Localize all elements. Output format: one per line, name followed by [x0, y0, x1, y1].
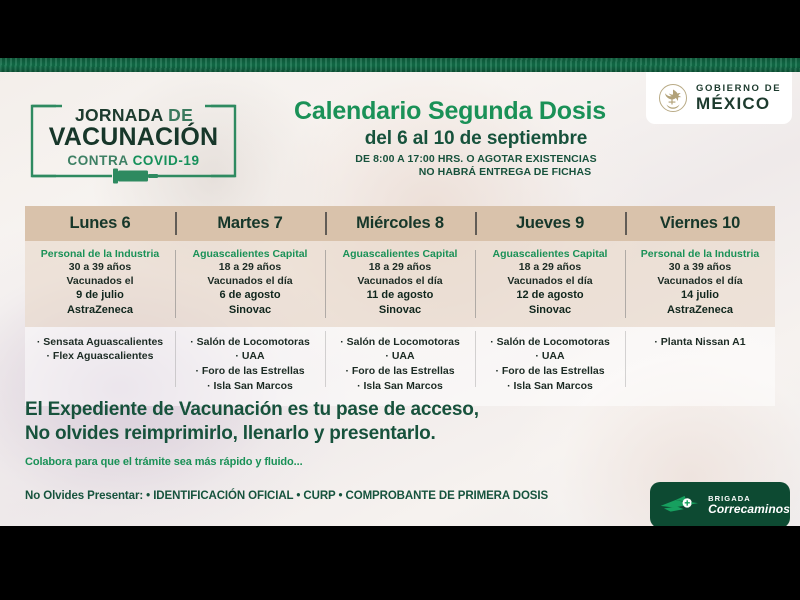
remember-item-0-text: IDENTIFICACIÓN OFICIAL [153, 490, 293, 502]
vaccinated-label: Vacunados el día [631, 275, 769, 289]
info-cell-viernes: Personal de la Industria 30 a 39 años Va… [625, 241, 775, 327]
list-item: · Salón de Locomotoras [331, 335, 469, 350]
group-label: Aguascalientes Capital [331, 248, 469, 261]
list-item: · Isla San Marcos [481, 379, 619, 394]
info-cell-martes: Aguascalientes Capital 18 a 29 años Vacu… [175, 241, 325, 327]
vaccinated-label: Vacunados el día [481, 275, 619, 289]
no-fichas-notice: NO HABRÁ ENTREGA DE FICHAS [250, 166, 650, 178]
calendar-header-row: Lunes 6 Martes 7 Miércoles 8 Jueves 9 Vi… [25, 206, 775, 241]
roadrunner-bird-icon [659, 490, 702, 520]
logo-covid-word: COVID-19 [133, 153, 200, 168]
remember-label: No Olvides Presentar: [25, 490, 143, 502]
age-label: 18 a 29 años [331, 261, 469, 275]
vaccine-name: AstraZeneca [31, 303, 169, 317]
age-label: 30 a 39 años [31, 261, 169, 275]
locations-cell-lunes: · Sensata Aguascalientes · Flex Aguascal… [25, 327, 175, 407]
info-cell-jueves: Aguascalientes Capital 18 a 29 años Vacu… [475, 241, 625, 327]
remember-item-2: • COMPROBANTE DE PRIMERA DOSIS [339, 490, 549, 502]
day-header-martes: Martes 7 [175, 206, 325, 241]
sub-message: Colabora para que el trámite sea más ráp… [25, 456, 645, 468]
day-header-lunes: Lunes 6 [25, 206, 175, 241]
list-item: · Foro de las Estrellas [481, 364, 619, 379]
vaccine-name: Sinovac [481, 303, 619, 317]
vaccinated-label: Vacunados el día [331, 275, 469, 289]
brigada-line2: Correcaminos [708, 503, 790, 516]
remember-item-1: • CURP [296, 490, 335, 502]
logo-jornada-word: JORNADA [75, 105, 163, 125]
vaccine-name: Sinovac [331, 303, 469, 317]
info-cell-lunes: Personal de la Industria 30 a 39 años Va… [25, 241, 175, 327]
list-item: · Planta Nissan A1 [631, 335, 769, 350]
day-label: Miércoles 8 [329, 214, 471, 233]
first-dose-date: 11 de agosto [331, 288, 469, 303]
group-label: Personal de la Industria [631, 248, 769, 261]
calendar-locations-row: · Sensata Aguascalientes · Flex Aguascal… [25, 327, 775, 407]
vaccine-name: Sinovac [181, 303, 319, 317]
list-item: · Salón de Locomotoras [181, 335, 319, 350]
calendar-table: Lunes 6 Martes 7 Miércoles 8 Jueves 9 Vi… [25, 206, 775, 406]
list-item: · Foro de las Estrellas [331, 364, 469, 379]
vaccine-name: AstraZeneca [631, 303, 769, 317]
info-cell-miercoles: Aguascalientes Capital 18 a 29 años Vacu… [325, 241, 475, 327]
day-header-jueves: Jueves 9 [475, 206, 625, 241]
locations-cell-viernes: · Planta Nissan A1 [625, 327, 775, 407]
brigada-text: BRIGADA Correcaminos [708, 495, 790, 515]
jornada-vacunacion-logo: JORNADA DE VACUNACIÓN CONTRA COVID-19 [26, 96, 241, 191]
group-label: Aguascalientes Capital [481, 248, 619, 261]
list-item: · UAA [181, 349, 319, 364]
locations-cell-jueves: · Salón de Locomotoras · UAA · Foro de l… [475, 327, 625, 407]
group-label: Aguascalientes Capital [181, 248, 319, 261]
list-item: · Flex Aguascalientes [31, 349, 169, 364]
day-label: Lunes 6 [29, 214, 171, 233]
header-block: Calendario Segunda Dosis del 6 al 10 de … [250, 98, 650, 178]
list-item: · Isla San Marcos [181, 379, 319, 394]
first-dose-date: 6 de agosto [181, 288, 319, 303]
day-label: Martes 7 [179, 214, 321, 233]
gobierno-de-mexico-badge: GOBIERNO DE MÉXICO [646, 72, 792, 124]
list-item: · Foro de las Estrellas [181, 364, 319, 379]
gobierno-text: GOBIERNO DE MÉXICO [696, 84, 781, 113]
list-item: · Sensata Aguascalientes [31, 335, 169, 350]
remember-item-0: • IDENTIFICACIÓN OFICIAL [146, 490, 293, 502]
mexico-eagle-seal-icon [658, 83, 688, 113]
remember-item-2-text: COMPROBANTE DE PRIMERA DOSIS [346, 490, 549, 502]
day-header-miercoles: Miércoles 8 [325, 206, 475, 241]
day-label: Jueves 9 [479, 214, 621, 233]
main-message-block: El Expediente de Vacunación es tu pase d… [25, 398, 645, 468]
list-item: · Salón de Locomotoras [481, 335, 619, 350]
group-label: Personal de la Industria [31, 248, 169, 261]
top-green-band-right [640, 58, 800, 72]
list-item: · UAA [331, 349, 469, 364]
date-range-subtitle: del 6 al 10 de septiembre [250, 128, 650, 150]
poster-stage: JORNADA DE VACUNACIÓN CONTRA COVID-19 Ca… [0, 0, 800, 600]
age-label: 18 a 29 años [481, 261, 619, 275]
vaccinated-label: Vacunados el día [181, 275, 319, 289]
logo-de-word: DE [168, 105, 193, 125]
gobierno-line1: GOBIERNO DE [696, 84, 781, 94]
hours-text: DE 8:00 A 17:00 HRS. O AGOTAR EXISTENCIA… [250, 153, 650, 165]
logo-contra-line: CONTRA COVID-19 [26, 153, 241, 168]
poster-canvas: JORNADA DE VACUNACIÓN CONTRA COVID-19 Ca… [0, 58, 800, 526]
syringe-icon [113, 169, 158, 184]
list-item: · Isla San Marcos [331, 379, 469, 394]
locations-cell-miercoles: · Salón de Locomotoras · UAA · Foro de l… [325, 327, 475, 407]
logo-contra-word: CONTRA [67, 153, 128, 168]
list-item: · UAA [481, 349, 619, 364]
first-dose-date: 9 de julio [31, 288, 169, 303]
gobierno-line2: MÉXICO [696, 95, 781, 112]
page-title: Calendario Segunda Dosis [250, 98, 650, 126]
main-message-line1: El Expediente de Vacunación es tu pase d… [25, 398, 645, 422]
first-dose-date: 12 de agosto [481, 288, 619, 303]
age-label: 18 a 29 años [181, 261, 319, 275]
age-label: 30 a 39 años [631, 261, 769, 275]
brigada-correcaminos-badge: BRIGADA Correcaminos [650, 482, 790, 526]
day-header-viernes: Viernes 10 [625, 206, 775, 241]
vaccinated-label: Vacunados el [31, 275, 169, 289]
locations-cell-martes: · Salón de Locomotoras · UAA · Foro de l… [175, 327, 325, 407]
logo-vacunacion-word: VACUNACIÓN [26, 123, 241, 152]
remember-line: No Olvides Presentar: • IDENTIFICACIÓN O… [25, 490, 548, 502]
remember-item-1-text: CURP [303, 490, 335, 502]
day-label: Viernes 10 [629, 214, 771, 233]
main-message-line2: No olvides reimprimirlo, llenarlo y pres… [25, 422, 645, 446]
first-dose-date: 14 julio [631, 288, 769, 303]
calendar-info-row: Personal de la Industria 30 a 39 años Va… [25, 241, 775, 327]
